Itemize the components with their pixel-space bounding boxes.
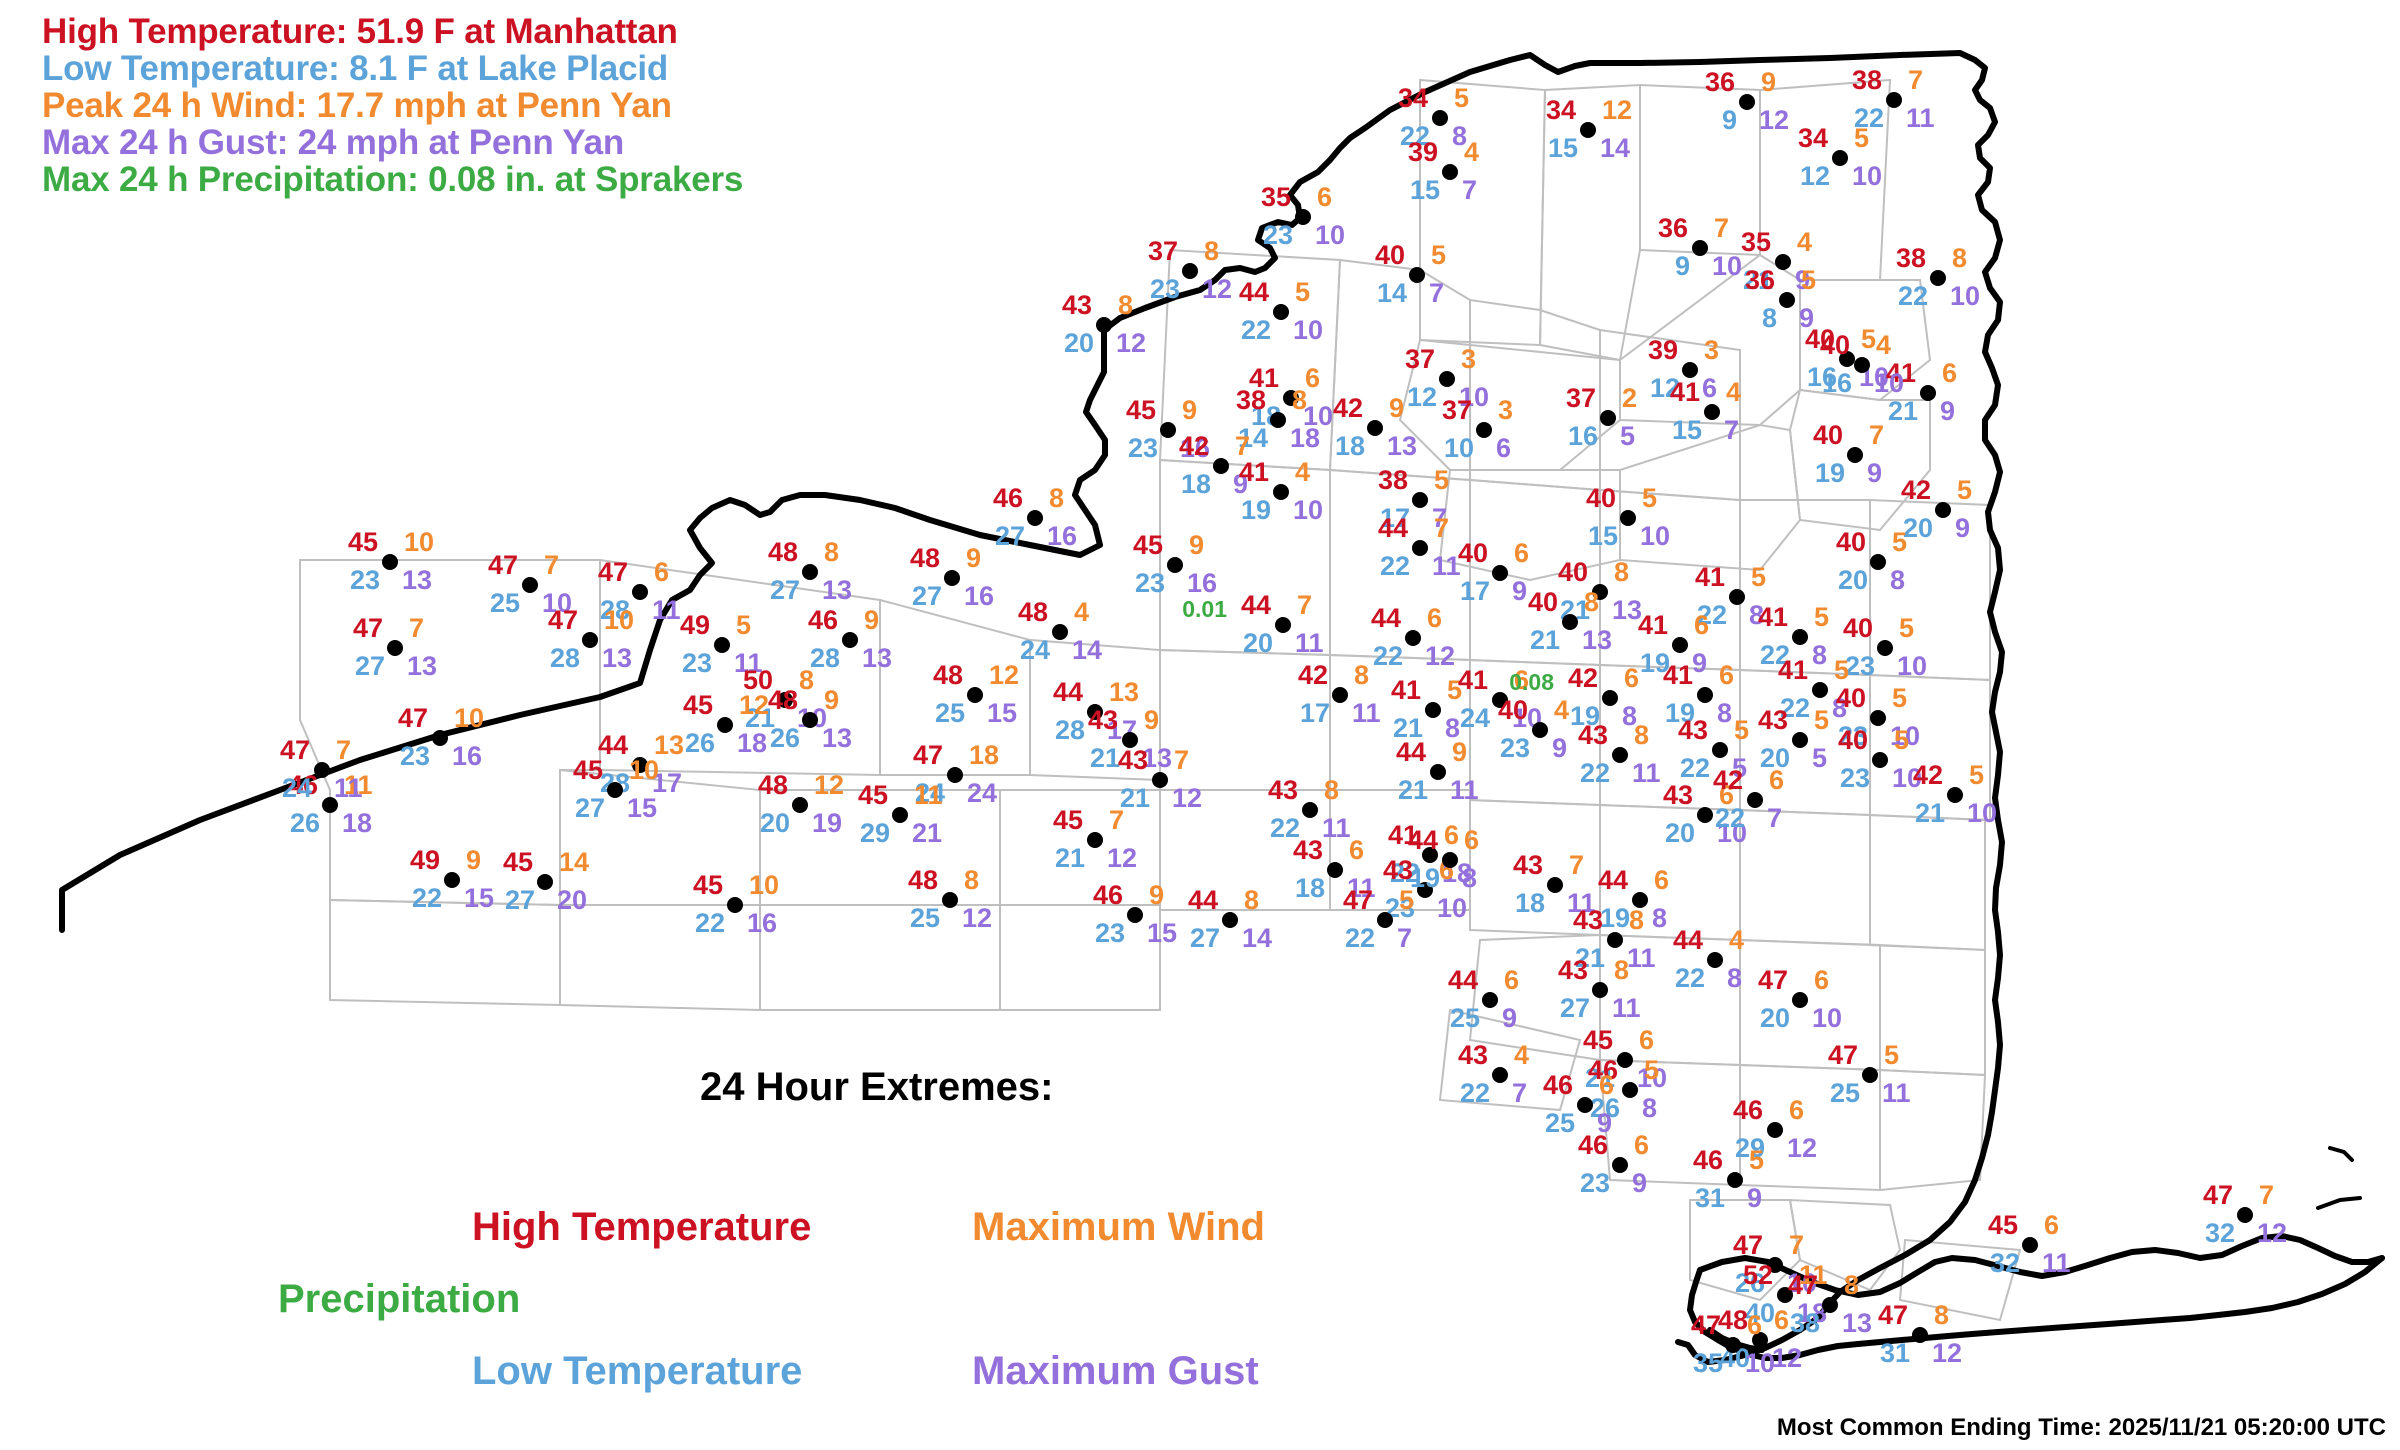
station-low-temperature: 26 [290,808,320,839]
station-dot-icon [582,632,598,648]
station-high-temperature: 46 [1578,1130,1608,1161]
station-low-temperature: 23 [1840,763,1870,794]
extreme-peak-wind: Peak 24 h Wind: 17.7 mph at Penn Yan [42,88,743,125]
station-dot-icon [1580,122,1596,138]
station-high-temperature: 44 [1241,590,1271,621]
station-low-temperature: 25 [935,698,965,729]
station-max-gust: 10 [1293,315,1323,346]
station-dot-icon [1729,589,1745,605]
station-high-temperature: 48 [768,537,798,568]
station-dot-icon [444,872,460,888]
station-low-temperature: 27 [575,793,605,824]
station-dot-icon [1870,554,1886,570]
station-max-gust: 12 [1202,274,1232,305]
station-high-temperature: 42 [1333,393,1363,424]
station-low-temperature: 18 [1295,873,1325,904]
station-dot-icon [1492,1067,1508,1083]
station-dot-icon [1847,447,1863,463]
station-max-wind: 8 [1354,660,1369,691]
station-high-temperature: 47 [280,735,310,766]
station-dot-icon [1096,317,1112,333]
station-dot-icon [1182,263,1198,279]
station-max-wind: 6 [2044,1210,2059,1241]
station-dot-icon [1327,862,1343,878]
station-max-gust: 6 [1496,433,1511,464]
station-high-temperature: 43 [1383,855,1413,886]
station-dot-icon [1920,385,1936,401]
station-dot-icon [1562,614,1578,630]
station-high-temperature: 47 [1878,1300,1908,1331]
station-low-temperature: 27 [1560,993,1590,1024]
station-max-gust: 16 [1187,568,1217,599]
station-max-wind: 4 [1554,695,1569,726]
station-dot-icon [1439,371,1455,387]
station-max-gust: 10 [1897,651,1927,682]
station-high-temperature: 44 [1239,277,1269,308]
station-dot-icon [522,577,538,593]
station-low-temperature: 17 [1460,576,1490,607]
station-max-wind: 5 [1454,83,1469,114]
station-dot-icon [1592,982,1608,998]
station-max-wind: 9 [1389,393,1404,424]
station-low-temperature: 12 [1407,382,1437,413]
station-dot-icon [1332,687,1348,703]
extremes-summary: High Temperature: 51.9 F at Manhattan Lo… [42,14,743,199]
station-low-temperature: 15 [1588,521,1618,552]
station-max-wind: 8 [1614,557,1629,588]
station-high-temperature: 41 [1778,655,1808,686]
station-low-temperature: 22 [1580,758,1610,789]
station-high-temperature: 49 [410,845,440,876]
station-max-wind: 8 [1118,290,1133,321]
station-low-temperature: 23 [1500,733,1530,764]
station-high-temperature: 43 [1293,835,1323,866]
station-dot-icon [792,797,808,813]
station-dot-icon [842,632,858,648]
station-dot-icon [1442,164,1458,180]
station-max-gust: 9 [1692,648,1707,679]
station-low-temperature: 18 [1181,469,1211,500]
station-high-temperature: 37 [1566,383,1596,414]
station-dot-icon [1482,992,1498,1008]
station-high-temperature: 43 [1268,775,1298,806]
station-high-temperature: 42 [1713,765,1743,796]
station-dot-icon [1870,710,1886,726]
station-max-wind: 5 [1814,602,1829,633]
station-max-wind: 6 [1719,660,1734,691]
station-max-wind: 9 [1761,67,1776,98]
station-high-temperature: 42 [1179,431,1209,462]
station-max-wind: 12 [989,660,1019,691]
station-high-temperature: 48 [1018,597,1048,628]
station-max-wind: 6 [1464,825,1479,856]
station-low-temperature: 15 [1548,133,1578,164]
station-dot-icon [1779,292,1795,308]
station-max-gust: 12 [1787,1133,1817,1164]
station-dot-icon [314,762,330,778]
station-dot-icon [2022,1237,2038,1253]
station-dot-icon [947,767,963,783]
station-max-wind: 3 [1704,335,1719,366]
station-max-gust: 11 [1432,551,1461,582]
station-dot-icon [1712,742,1728,758]
station-dot-icon [714,637,730,653]
station-max-gust: 8 [1890,565,1905,596]
station-dot-icon [1767,1122,1783,1138]
station-dot-icon [1727,1172,1743,1188]
station-max-wind: 18 [969,740,999,771]
station-max-gust: 10 [1812,1003,1842,1034]
station-high-temperature: 41 [1695,562,1725,593]
station-low-temperature: 9 [1722,105,1737,136]
station-max-gust: 10 [1437,893,1467,924]
station-max-gust: 13 [1842,1308,1872,1339]
station-high-temperature: 44 [1378,513,1408,544]
station-max-wind: 8 [1049,483,1064,514]
station-high-temperature: 43 [1678,715,1708,746]
station-low-temperature: 23 [1845,651,1875,682]
station-low-temperature: 20 [1760,1003,1790,1034]
legend-item-high-temperature: High Temperature [472,1205,811,1250]
station-max-gust: 21 [912,818,942,849]
station-high-temperature: 38 [1236,385,1266,416]
station-max-wind: 6 [1769,765,1784,796]
station-low-temperature: 35 [1693,1348,1723,1379]
station-high-temperature: 47 [1343,885,1373,916]
station-max-wind: 6 [1634,1130,1649,1161]
station-low-temperature: 25 [910,903,940,934]
station-max-wind: 8 [1844,1270,1859,1301]
station-max-wind: 8 [1204,236,1219,267]
station-max-gust: 11 [1295,628,1324,659]
station-max-gust: 18 [342,808,372,839]
station-low-temperature: 26 [770,723,800,754]
station-max-wind: 7 [2259,1180,2274,1211]
station-max-gust: 10 [1745,1348,1775,1379]
station-max-wind: 8 [1584,587,1599,618]
station-max-wind: 6 [1774,1305,1789,1336]
station-low-temperature: 20 [1665,818,1695,849]
station-low-temperature: 21 [1530,625,1560,656]
station-low-temperature: 19 [1815,458,1845,489]
station-high-temperature: 41 [1663,660,1693,691]
station-low-temperature: 22 [1345,923,1375,954]
legend-item-low-temperature: Low Temperature [472,1349,802,1394]
station-dot-icon [1377,912,1393,928]
station-high-temperature: 44 [1673,925,1703,956]
station-dot-icon [1577,1097,1593,1113]
station-max-wind: 5 [1899,613,1914,644]
station-max-gust: 14 [1600,133,1630,164]
station-max-wind: 7 [1174,745,1189,776]
station-dot-icon [1367,420,1383,436]
station-max-gust: 12 [962,903,992,934]
station-low-temperature: 21 [1120,783,1150,814]
station-dot-icon [1027,510,1043,526]
station-max-gust: 9 [1955,513,1970,544]
legend-item-maximum-gust: Maximum Gust [972,1349,1259,1394]
extreme-max-precipitation: Max 24 h Precipitation: 0.08 in. at Spra… [42,162,743,199]
station-low-temperature: 20 [760,808,790,839]
station-high-temperature: 47 [913,740,943,771]
station-low-temperature: 38 [1790,1308,1820,1339]
station-dot-icon [1832,150,1848,166]
station-max-gust: 10 [1967,798,1997,829]
station-max-wind: 7 [409,613,424,644]
station-max-wind: 5 [1894,725,1909,756]
station-max-gust: 15 [627,793,657,824]
station-max-wind: 7 [1434,513,1449,544]
station-low-temperature: 15 [1672,415,1702,446]
station-high-temperature: 45 [858,780,888,811]
station-max-wind: 8 [1244,885,1259,916]
station-max-wind: 6 [1349,835,1364,866]
station-dot-icon [1442,852,1458,868]
station-dot-icon [1682,362,1698,378]
station-high-temperature: 43 [1513,850,1543,881]
station-max-wind: 4 [1514,1040,1529,1071]
station-max-gust: 15 [464,883,494,914]
station-dot-icon [892,807,908,823]
station-max-gust: 7 [1767,803,1782,834]
station-max-gust: 19 [812,808,842,839]
station-high-temperature: 41 [1670,377,1700,408]
station-max-gust: 10 [1640,521,1670,552]
station-dot-icon [1935,502,1951,518]
station-max-wind: 6 [1747,1310,1762,1341]
station-low-temperature: 27 [505,885,535,916]
station-high-temperature: 40 [1813,420,1843,451]
station-high-temperature: 37 [1442,395,1472,426]
station-low-temperature: 27 [1190,923,1220,954]
station-high-temperature: 44 [1598,865,1628,896]
station-low-temperature: 25 [490,588,520,619]
station-max-gust: 11 [1612,993,1641,1024]
station-high-temperature: 47 [353,613,383,644]
station-low-temperature: 22 [412,883,442,914]
station-high-temperature: 42 [1901,475,1931,506]
station-low-temperature: 8 [1762,303,1777,334]
station-high-temperature: 43 [1118,745,1148,776]
station-max-wind: 6 [1599,1070,1614,1101]
station-max-wind: 2 [1622,383,1637,414]
station-low-temperature: 23 [1128,433,1158,464]
station-precipitation: 0.01 [1182,596,1227,623]
station-max-wind: 5 [1642,483,1657,514]
station-max-gust: 12 [2257,1218,2287,1249]
station-max-gust: 11 [1352,698,1381,729]
station-high-temperature: 41 [1239,457,1269,488]
station-high-temperature: 45 [1988,1210,2018,1241]
station-low-temperature: 31 [1695,1183,1725,1214]
station-max-wind: 6 [1942,358,1957,389]
station-high-temperature: 47 [488,550,518,581]
station-high-temperature: 40 [1586,483,1616,514]
station-low-temperature: 21 [1398,775,1428,806]
station-max-wind: 5 [1751,562,1766,593]
station-high-temperature: 45 [1126,395,1156,426]
station-dot-icon [1822,1297,1838,1313]
station-dot-icon [1492,565,1508,581]
station-low-temperature: 25 [1830,1078,1860,1109]
station-low-temperature: 23 [1580,1168,1610,1199]
station-high-temperature: 41 [1458,665,1488,696]
station-low-temperature: 9 [1675,251,1690,282]
station-high-temperature: 47 [1828,1040,1858,1071]
station-max-wind: 7 [1297,590,1312,621]
station-low-temperature: 18 [1335,431,1365,462]
station-max-gust: 18 [1290,423,1320,454]
station-dot-icon [1222,912,1238,928]
station-high-temperature: 43 [1062,290,1092,321]
station-max-gust: 11 [1450,775,1479,806]
station-low-temperature: 22 [1460,1078,1490,1109]
station-max-wind: 5 [1295,277,1310,308]
station-max-wind: 8 [1629,905,1644,936]
station-max-gust: 8 [1812,640,1827,671]
station-low-temperature: 16 [1568,421,1598,452]
station-max-gust: 13 [1582,625,1612,656]
station-max-gust: 12 [1759,105,1789,136]
station-max-wind: 3 [1498,395,1513,426]
station-low-temperature: 20 [1243,628,1273,659]
station-max-wind: 5 [1801,265,1816,296]
station-precipitation: 0.08 [1509,669,1554,696]
station-max-wind: 5 [1734,715,1749,746]
station-dot-icon [1600,410,1616,426]
station-high-temperature: 45 [683,690,713,721]
station-dot-icon [1739,94,1755,110]
station-max-gust: 16 [747,908,777,939]
station-dot-icon [1273,484,1289,500]
station-max-gust: 9 [1867,458,1882,489]
station-max-gust: 10 [1852,161,1882,192]
station-low-temperature: 32 [1990,1248,2020,1279]
station-max-gust: 7 [1429,278,1444,309]
station-high-temperature: 47 [2203,1180,2233,1211]
station-max-gust: 5 [1620,421,1635,452]
station-max-wind: 4 [1295,457,1310,488]
station-max-gust: 10 [1950,281,1980,312]
station-dot-icon [727,897,743,913]
station-low-temperature: 12 [1800,161,1830,192]
station-max-wind: 13 [1109,677,1139,708]
station-max-gust: 8 [1727,963,1742,994]
station-max-gust: 12 [1772,1343,1802,1374]
station-low-temperature: 32 [2205,1218,2235,1249]
station-max-wind: 5 [1892,683,1907,714]
station-dot-icon [1912,1327,1928,1343]
legend-title: 24 Hour Extremes: [700,1065,1053,1110]
station-max-wind: 11 [914,780,943,811]
station-low-temperature: 27 [770,575,800,606]
station-low-temperature: 28 [550,643,580,674]
station-dot-icon [1697,687,1713,703]
station-high-temperature: 47 [598,557,628,588]
station-low-temperature: 22 [1241,315,1271,346]
station-max-wind: 6 [1504,965,1519,996]
station-dot-icon [1612,747,1628,763]
station-max-wind: 4 [1729,925,1744,956]
station-max-wind: 7 [1789,1230,1804,1261]
station-dot-icon [1127,907,1143,923]
station-max-wind: 8 [799,665,814,696]
station-high-temperature: 43 [1088,705,1118,736]
station-max-gust: 9 [1502,1003,1517,1034]
station-low-temperature: 20 [1903,513,1933,544]
station-high-temperature: 46 [1093,880,1123,911]
station-dot-icon [1747,792,1763,808]
station-low-temperature: 26 [685,728,715,759]
station-high-temperature: 40 [1836,683,1866,714]
station-max-gust: 11 [2042,1248,2071,1279]
station-dot-icon [802,564,818,580]
station-dot-icon [1412,492,1428,508]
station-high-temperature: 45 [1053,805,1083,836]
station-max-gust: 7 [1724,415,1739,446]
station-max-wind: 7 [1869,420,1884,451]
station-dot-icon [537,874,553,890]
legend-item-maximum-wind: Maximum Wind [972,1205,1265,1250]
station-max-wind: 6 [1814,965,1829,996]
station-high-temperature: 46 [1543,1070,1573,1101]
station-high-temperature: 48 [910,543,940,574]
station-max-wind: 5 [1957,475,1972,506]
station-max-gust: 11 [1632,758,1661,789]
station-high-temperature: 43 [1578,720,1608,751]
station-max-wind: 10 [629,755,659,786]
station-max-wind: 7 [336,735,351,766]
station-max-wind: 5 [1749,1145,1764,1176]
station-max-gust: 9 [1940,396,1955,427]
station-max-wind: 6 [1317,182,1332,213]
station-low-temperature: 27 [355,651,385,682]
station-dot-icon [382,554,398,570]
station-max-gust: 8 [1652,903,1667,934]
station-max-wind: 5 [1892,527,1907,558]
station-dot-icon [967,687,983,703]
station-max-gust: 15 [1147,918,1177,949]
station-max-wind: 5 [1431,240,1446,271]
station-high-temperature: 38 [1896,243,1926,274]
weather-map-page: 3452283412151436991238722113451210394157… [0,0,2400,1450]
station-max-wind: 5 [1814,705,1829,736]
station-dot-icon [1087,832,1103,848]
station-max-wind: 12 [739,690,769,721]
station-high-temperature: 45 [573,755,603,786]
station-dot-icon [1052,624,1068,640]
station-max-gust: 11 [334,773,363,804]
station-high-temperature: 34 [1398,83,1428,114]
station-dot-icon [1872,752,1888,768]
station-low-temperature: 27 [995,521,1025,552]
station-dot-icon [1792,992,1808,1008]
station-low-temperature: 19 [1241,495,1271,526]
station-dot-icon [1425,702,1441,718]
station-max-gust: 15 [987,698,1017,729]
station-low-temperature: 23 [1135,568,1165,599]
station-max-wind: 5 [1861,324,1876,355]
station-max-wind: 7 [1109,805,1124,836]
station-high-temperature: 40 [1838,725,1868,756]
station-low-temperature: 23 [400,741,430,772]
station-max-wind: 7 [1908,65,1923,96]
station-max-wind: 6 [1624,663,1639,694]
station-max-gust: 11 [1627,943,1656,974]
station-high-temperature: 36 [1705,67,1735,98]
station-max-wind: 10 [404,527,434,558]
extreme-high-temperature: High Temperature: 51.9 F at Manhattan [42,14,743,51]
